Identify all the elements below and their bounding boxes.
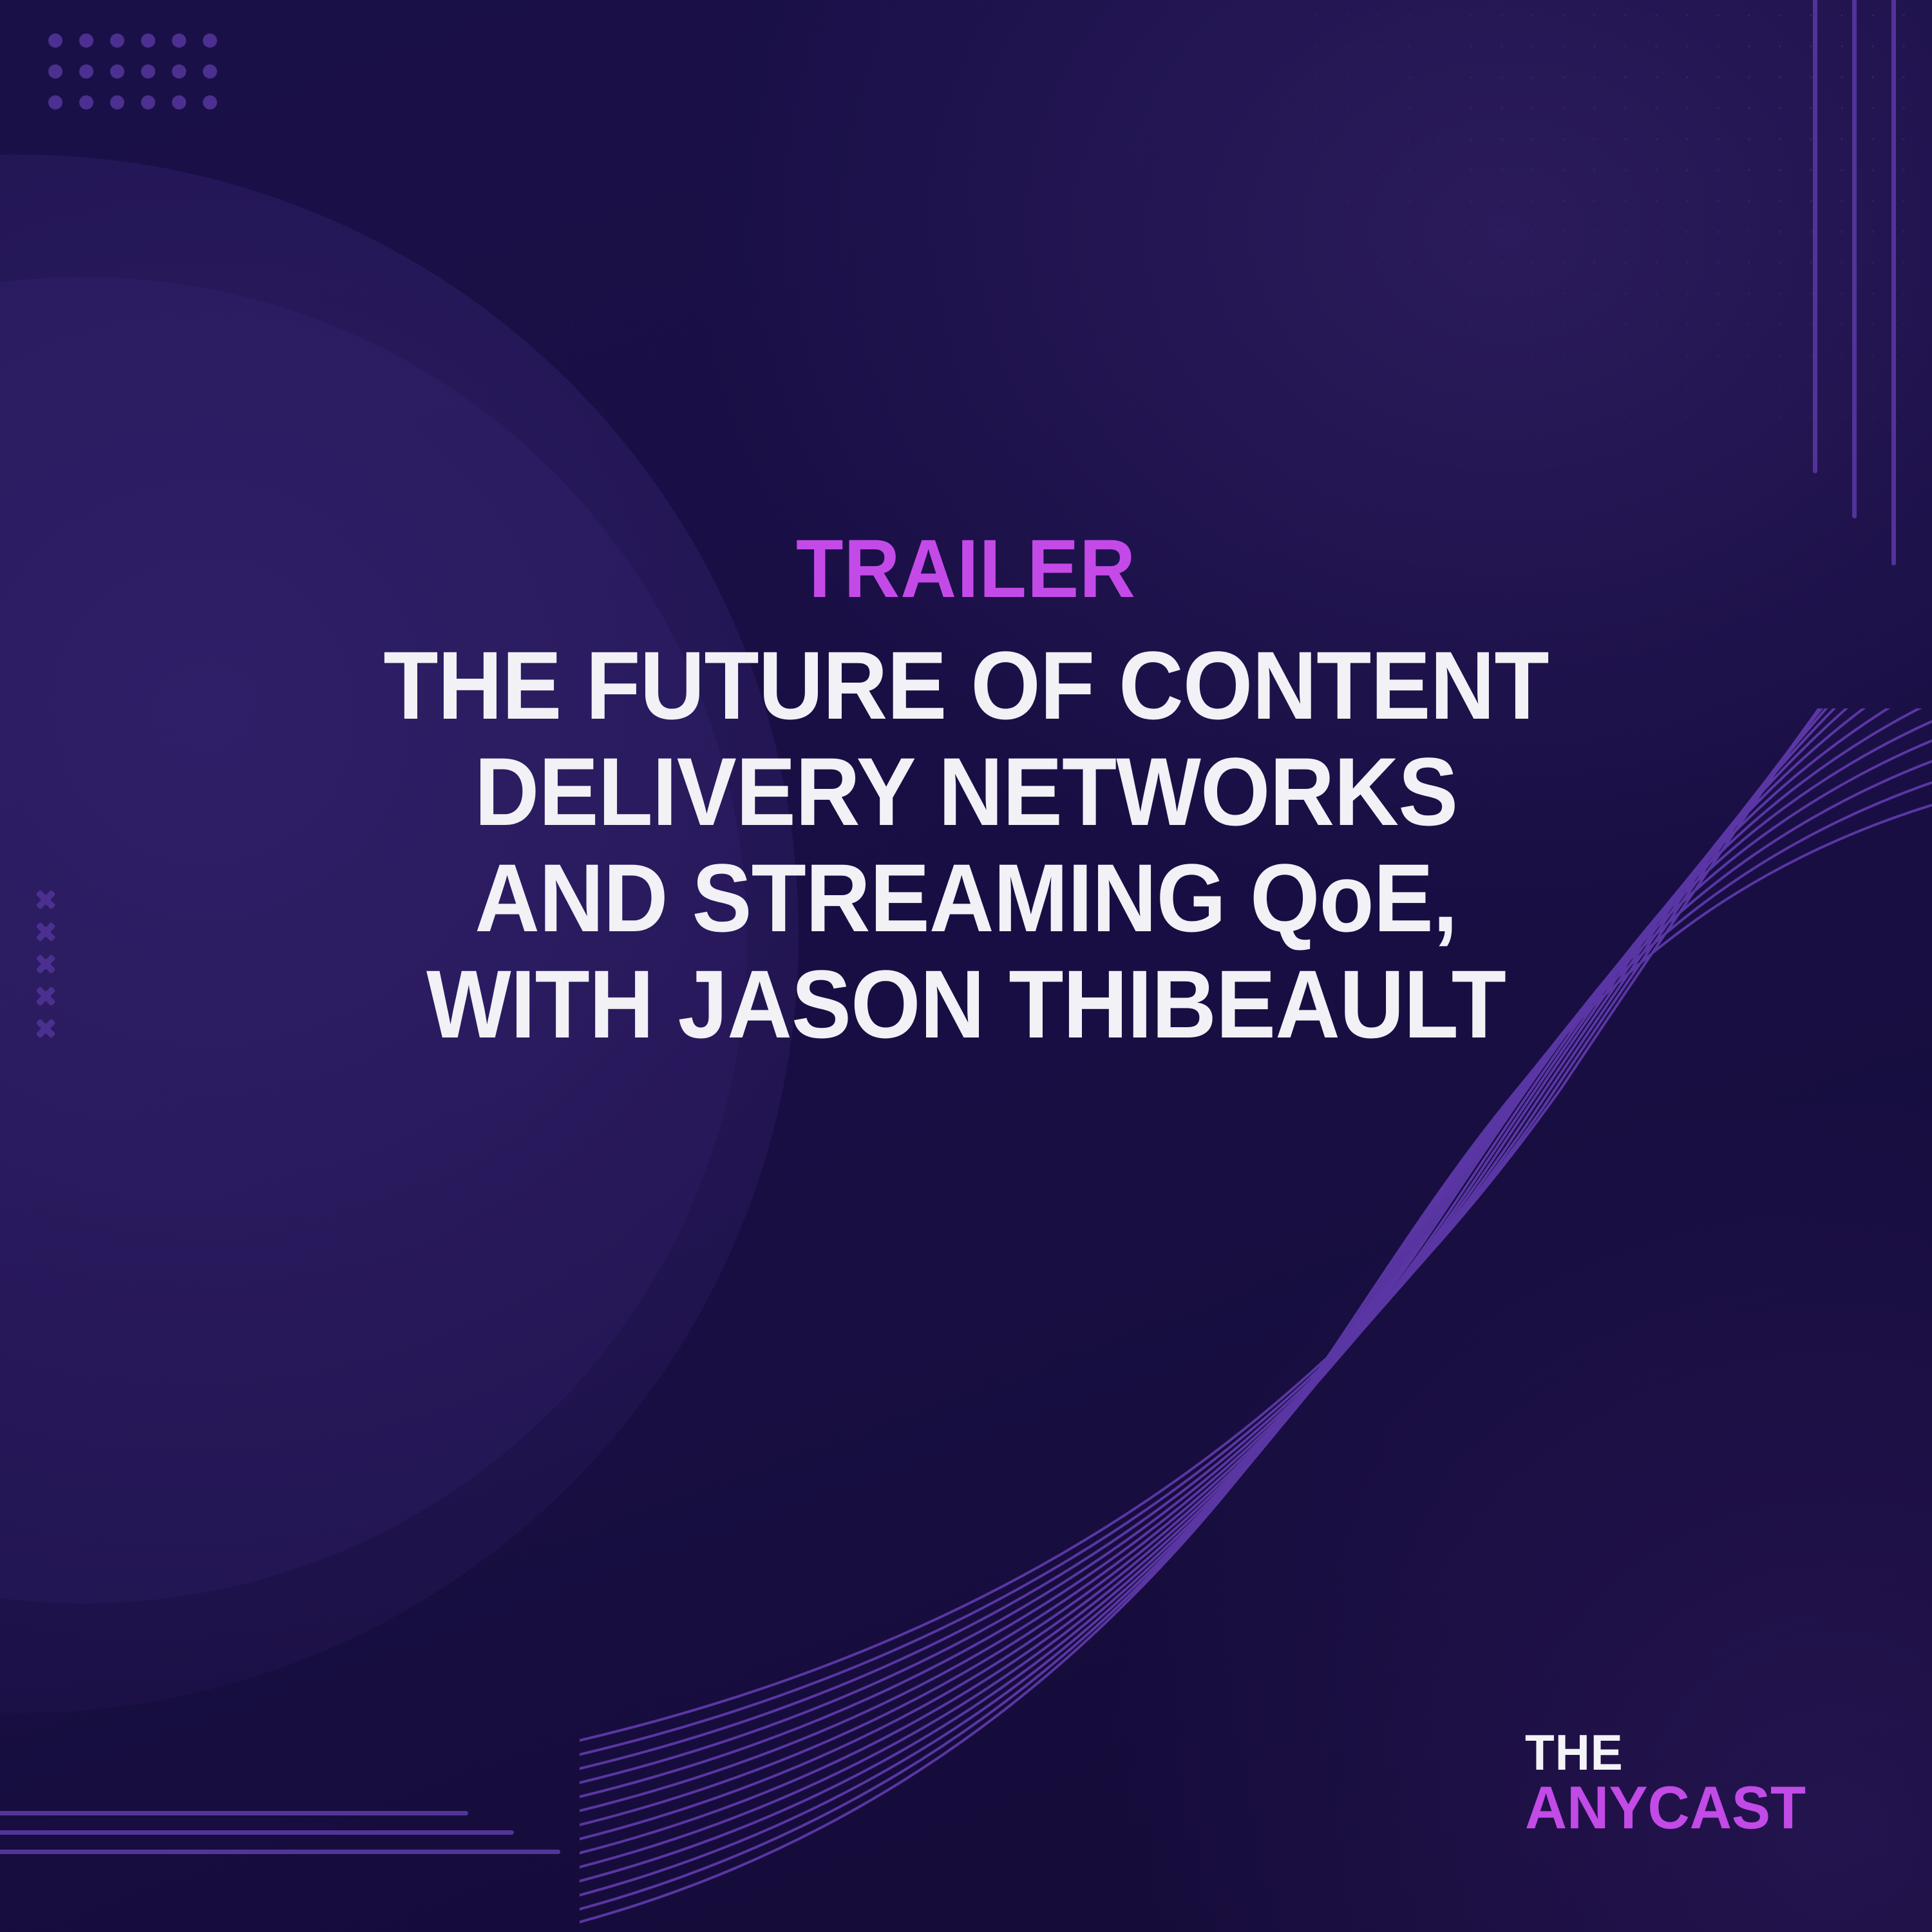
- grid-dot: [79, 64, 93, 79]
- episode-type-label: TRAILER: [131, 528, 1801, 611]
- horizontal-line: [0, 1830, 514, 1835]
- vertical-accent-lines: [1765, 0, 1932, 618]
- grid-dot: [79, 33, 93, 48]
- podcast-episode-poster: TRAILER THE FUTURE OF CONTENT DELIVERY N…: [0, 0, 1932, 1932]
- horizontal-accent-lines: [0, 1811, 612, 1862]
- title-line-1: THE FUTURE OF CONTENT: [140, 632, 1793, 739]
- grid-dot: [172, 95, 186, 109]
- vertical-line: [1852, 0, 1857, 518]
- dot-grid-icon: [48, 33, 234, 126]
- grid-dot: [110, 33, 124, 48]
- grid-dot: [203, 33, 217, 48]
- grid-dot: [203, 95, 217, 109]
- grid-dot: [48, 95, 62, 109]
- brand-logo: THE ANYCAST: [1525, 1730, 1817, 1835]
- grid-dot: [79, 95, 93, 109]
- poster-content: TRAILER THE FUTURE OF CONTENT DELIVERY N…: [0, 528, 1932, 1057]
- grid-dot: [172, 64, 186, 79]
- grid-dot: [110, 95, 124, 109]
- vertical-line: [1813, 0, 1817, 473]
- vertical-line: [1891, 0, 1896, 565]
- grid-dot: [203, 64, 217, 79]
- grid-dot: [48, 33, 62, 48]
- title-line-4: WITH JASON THIBEAULT: [140, 951, 1793, 1057]
- grid-dot: [141, 33, 155, 48]
- grid-dot: [48, 64, 62, 79]
- horizontal-line: [0, 1850, 560, 1854]
- title-line-3: AND STREAMING QoE,: [140, 845, 1793, 951]
- grid-dot: [141, 64, 155, 79]
- horizontal-line: [0, 1811, 468, 1815]
- grid-dot: [172, 33, 186, 48]
- title-line-2: DELIVERY NETWORKS: [140, 739, 1793, 845]
- logo-line-anycast: ANYCAST: [1525, 1780, 1806, 1835]
- grid-dot: [141, 95, 155, 109]
- logo-line-the: THE: [1525, 1730, 1806, 1776]
- grid-dot: [110, 64, 124, 79]
- episode-title: THE FUTURE OF CONTENT DELIVERY NETWORKS …: [140, 632, 1793, 1057]
